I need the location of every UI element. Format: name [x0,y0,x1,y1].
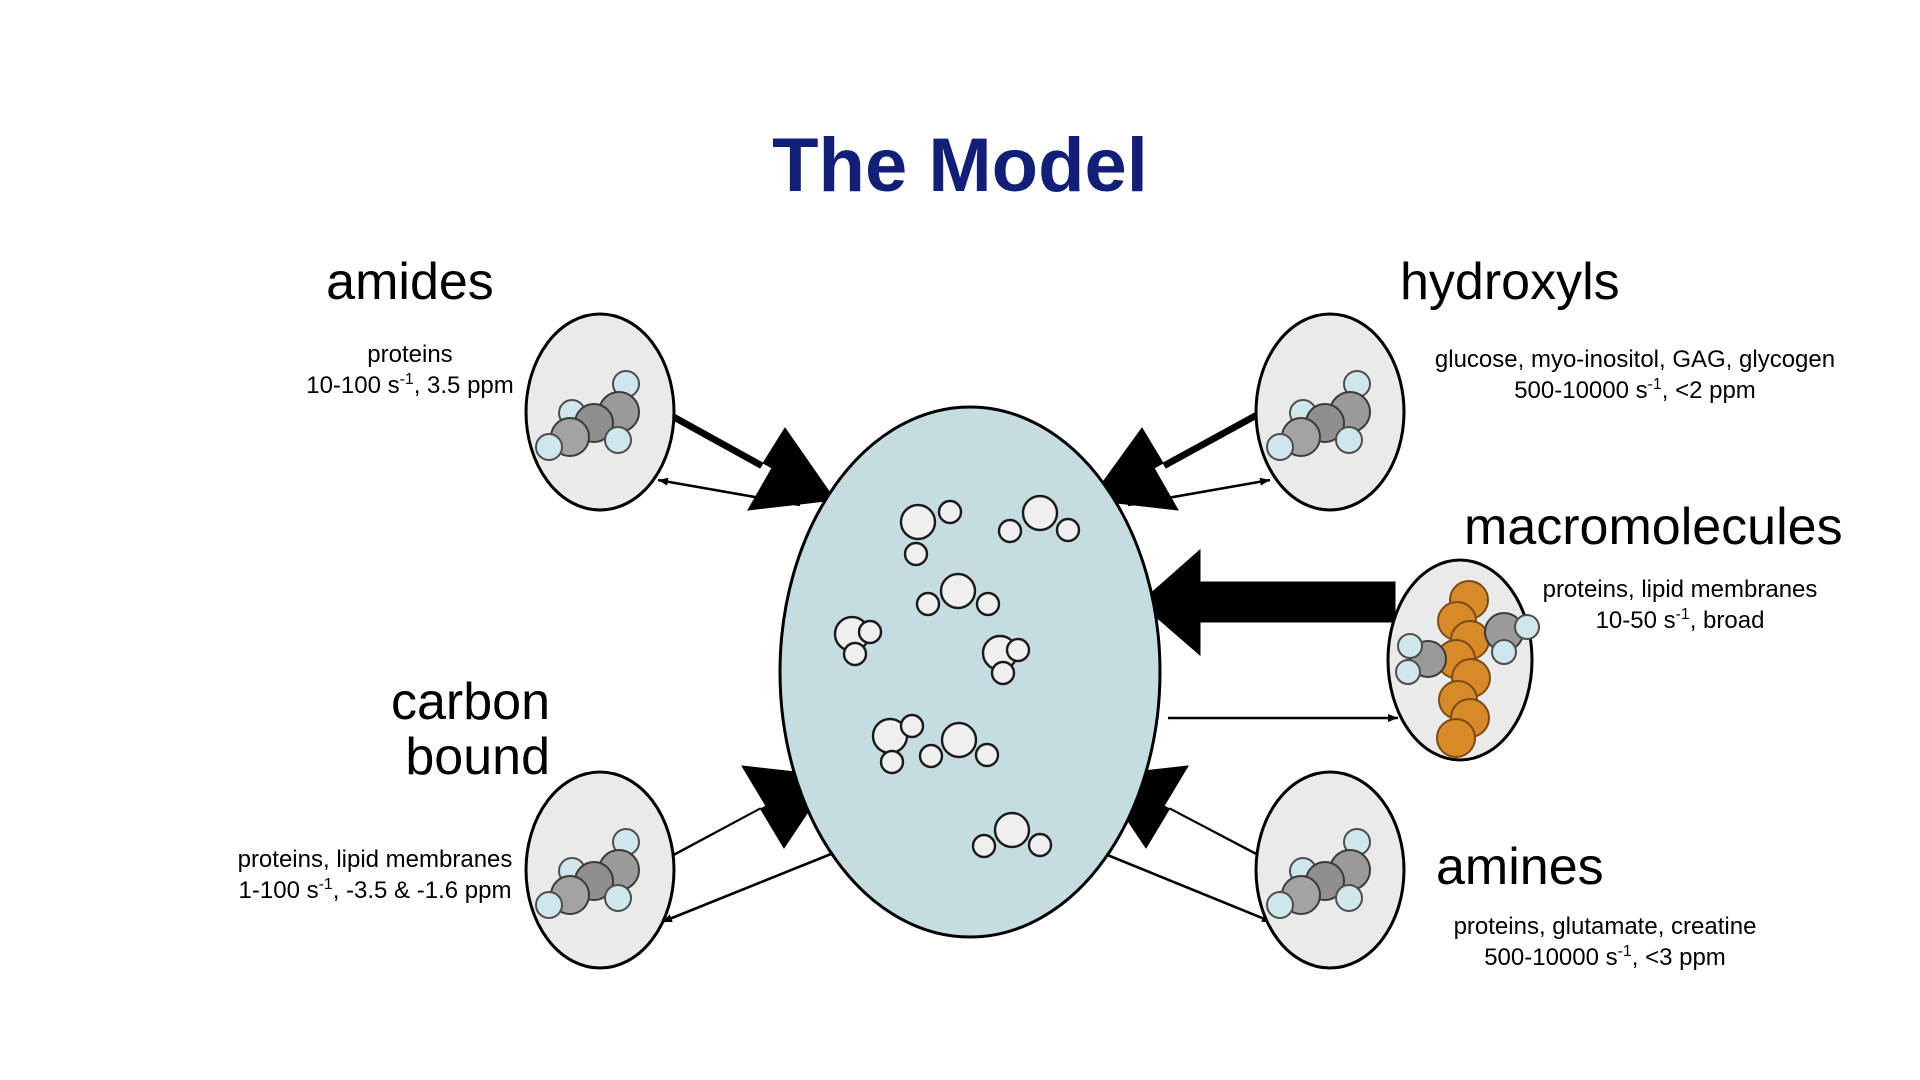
group-bubble-amines[interactable] [1256,772,1404,968]
arrow-thin-amines [1100,852,1272,922]
arrow-thin-carbon-bound [662,852,836,922]
group-bubble-macromolecules[interactable] [1388,560,1539,760]
group-bubble-hydroxyls[interactable] [1256,314,1404,510]
model-diagram [0,0,1920,1080]
water-pool-ellipse[interactable] [780,407,1160,937]
arrow-thick-macromolecules [1140,550,1395,655]
diagram-canvas: The Model amides proteins 10-100 s-1, 3.… [0,0,1920,1080]
group-bubble-carbon-bound[interactable] [526,772,674,968]
group-bubble-amides[interactable] [526,314,674,510]
water-pool[interactable] [780,407,1160,937]
